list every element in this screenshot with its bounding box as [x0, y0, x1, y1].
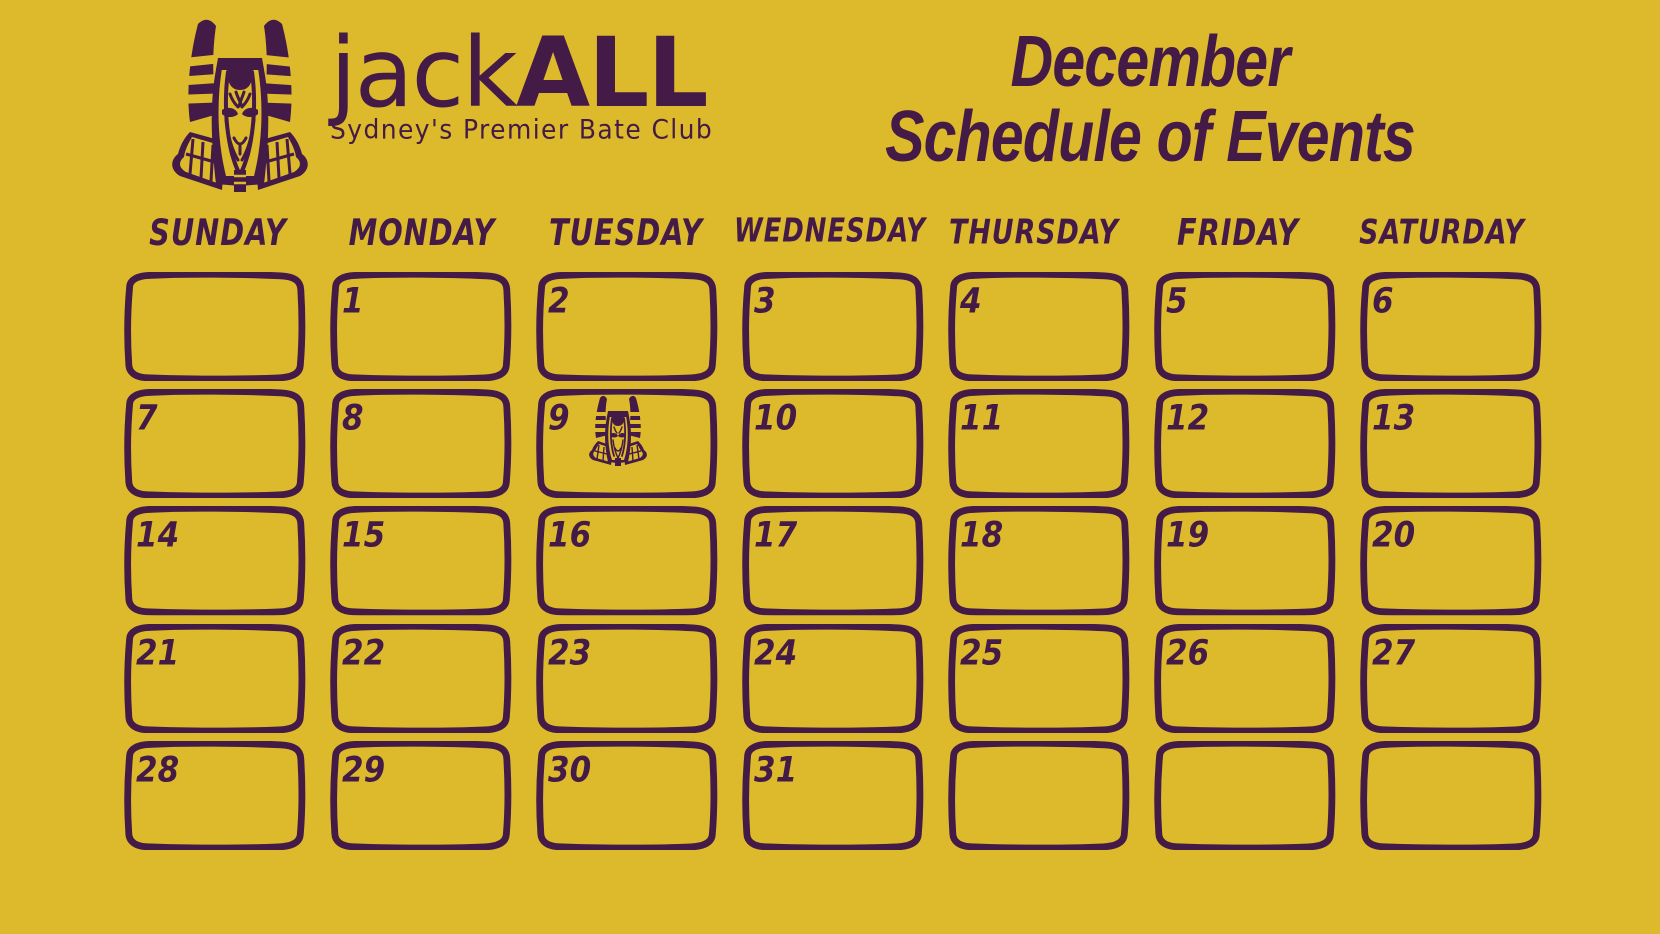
weekday-label-wednesday: WEDNESDAY	[732, 212, 928, 271]
day-number: 2	[548, 281, 570, 321]
day-number: 4	[960, 281, 982, 321]
day-number: 6	[1372, 281, 1394, 321]
wordmark-all: ALL	[516, 17, 707, 129]
day-number: 10	[754, 398, 797, 438]
day-number: 25	[960, 633, 1003, 673]
calendar-day-cell[interactable]: 26	[1146, 624, 1340, 733]
weekday-label-sunday: SUNDAY	[120, 212, 316, 271]
calendar-day-cell[interactable]: 7	[116, 389, 310, 498]
day-number: 30	[548, 750, 591, 790]
day-number: 1	[342, 281, 364, 321]
day-number: 17	[754, 515, 797, 555]
calendar-day-cell[interactable]: 27	[1352, 624, 1546, 733]
day-cell-border	[1146, 741, 1340, 850]
calendar-day-cell[interactable]: 9	[528, 389, 722, 498]
calendar-grid: 1234567891011121314151617181920212223242…	[116, 272, 1546, 850]
day-number: 29	[342, 750, 385, 790]
calendar-day-cell[interactable]: 24	[734, 624, 928, 733]
calendar-day-cell[interactable]: 8	[322, 389, 516, 498]
weekday-header-row: SUNDAYMONDAYTUESDAYWEDNESDAYTHURSDAYFRID…	[116, 212, 1544, 260]
calendar-day-cell[interactable]: 17	[734, 506, 928, 615]
calendar-empty-cell	[940, 741, 1134, 850]
day-number: 14	[136, 515, 179, 555]
calendar-day-cell[interactable]: 11	[940, 389, 1134, 498]
calendar-day-cell[interactable]: 15	[322, 506, 516, 615]
day-number: 11	[960, 398, 1003, 438]
calendar-day-cell[interactable]: 29	[322, 741, 516, 850]
calendar-day-cell[interactable]: 31	[734, 741, 928, 850]
weekday-label-friday: FRIDAY	[1140, 212, 1336, 271]
calendar-empty-cell	[1146, 741, 1340, 850]
day-number: 8	[342, 398, 364, 438]
day-number: 15	[342, 515, 385, 555]
day-cell-border	[1352, 741, 1546, 850]
calendar-day-cell[interactable]: 20	[1352, 506, 1546, 615]
day-cell-border	[116, 272, 310, 381]
weekday-label-tuesday: TUESDAY	[528, 212, 724, 271]
calendar-day-cell[interactable]: 18	[940, 506, 1134, 615]
calendar-day-cell[interactable]: 14	[116, 506, 310, 615]
day-number: 23	[548, 633, 591, 673]
calendar-day-cell[interactable]: 16	[528, 506, 722, 615]
calendar-day-cell[interactable]: 30	[528, 741, 722, 850]
day-cell-border	[940, 741, 1134, 850]
day-number: 22	[342, 633, 385, 673]
day-number: 19	[1166, 515, 1209, 555]
day-number: 31	[754, 750, 797, 790]
brand-lockup: jackALL Sydney's Premier Bate Club	[160, 10, 717, 194]
day-number: 7	[136, 398, 158, 438]
calendar-day-cell[interactable]: 1	[322, 272, 516, 381]
anubis-head-icon	[160, 14, 320, 194]
day-number: 16	[548, 515, 591, 555]
weekday-label-monday: MONDAY	[324, 212, 520, 271]
day-number: 18	[960, 515, 1003, 555]
day-number: 12	[1166, 398, 1209, 438]
anubis-head-icon	[586, 394, 650, 466]
calendar-day-cell[interactable]: 5	[1146, 272, 1340, 381]
day-number: 13	[1372, 398, 1415, 438]
wordmark-jack: jack	[330, 17, 516, 129]
day-number: 28	[136, 750, 179, 790]
calendar-day-cell[interactable]: 13	[1352, 389, 1546, 498]
calendar-day-cell[interactable]: 2	[528, 272, 722, 381]
day-number: 3	[754, 281, 776, 321]
day-number: 20	[1372, 515, 1415, 555]
calendar-day-cell[interactable]: 25	[940, 624, 1134, 733]
calendar-day-cell[interactable]: 12	[1146, 389, 1340, 498]
poster-title: December Schedule of Events	[700, 26, 1600, 175]
calendar-day-cell[interactable]: 19	[1146, 506, 1340, 615]
calendar-day-cell[interactable]: 6	[1352, 272, 1546, 381]
calendar-empty-cell	[116, 272, 310, 381]
calendar-day-cell[interactable]: 23	[528, 624, 722, 733]
calendar-day-cell[interactable]: 22	[322, 624, 516, 733]
title-month: December	[781, 26, 1519, 99]
weekday-label-thursday: THURSDAY	[936, 212, 1132, 271]
day-number: 5	[1166, 281, 1188, 321]
title-subtitle: Schedule of Events	[781, 101, 1519, 174]
calendar-day-cell[interactable]: 21	[116, 624, 310, 733]
day-number: 9	[548, 398, 570, 438]
brand-tagline: Sydney's Premier Bate Club	[330, 114, 717, 145]
calendar-empty-cell	[1352, 741, 1546, 850]
day-number: 24	[754, 633, 797, 673]
day-number: 21	[136, 633, 179, 673]
wordmark: jackALL	[330, 28, 717, 119]
calendar-day-cell[interactable]: 10	[734, 389, 928, 498]
brand-text: jackALL Sydney's Premier Bate Club	[330, 28, 717, 144]
poster-header: jackALL Sydney's Premier Bate Club Decem…	[0, 0, 1660, 205]
calendar-day-cell[interactable]: 3	[734, 272, 928, 381]
day-number: 26	[1166, 633, 1209, 673]
calendar-poster: jackALL Sydney's Premier Bate Club Decem…	[0, 0, 1660, 934]
weekday-label-saturday: SATURDAY	[1344, 212, 1540, 271]
day-number: 27	[1372, 633, 1415, 673]
calendar-day-cell[interactable]: 28	[116, 741, 310, 850]
calendar-day-cell[interactable]: 4	[940, 272, 1134, 381]
